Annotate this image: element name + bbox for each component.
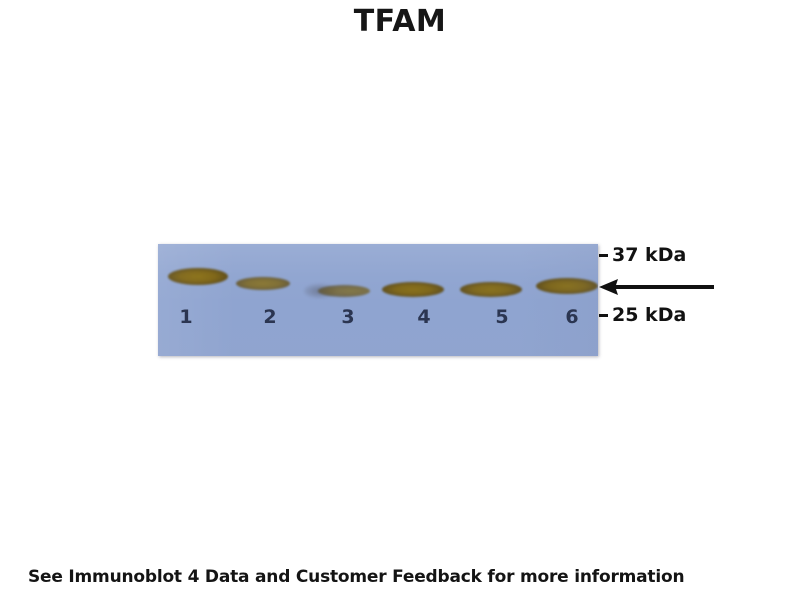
- figure-caption: See Immunoblot 4 Data and Customer Feedb…: [28, 566, 684, 588]
- mw-25-tick-icon: [599, 314, 608, 317]
- blot-band-lane-4: [382, 282, 444, 297]
- blot-band-core: [168, 268, 228, 285]
- blot-band-core: [460, 282, 522, 297]
- blot-band-core: [318, 285, 370, 297]
- blot-membrane-panel: [158, 244, 598, 356]
- blot-band-lane-1: [168, 268, 228, 285]
- blot-band-lane-5: [460, 282, 522, 297]
- western-blot-figure: TFAM 123456 37 kDa25 kDa See Immunoblot …: [0, 0, 800, 600]
- mw-25-label: 25 kDa: [612, 304, 686, 326]
- arrow-left-icon: [598, 278, 714, 296]
- page-title: TFAM: [0, 4, 800, 40]
- lane-number-3: 3: [334, 306, 362, 328]
- blot-band-lane-6: [536, 278, 598, 294]
- blot-band-core: [382, 282, 444, 297]
- lane-number-2: 2: [256, 306, 284, 328]
- mw-37-tick-icon: [599, 254, 608, 257]
- lane-number-6: 6: [558, 306, 586, 328]
- blot-band-core: [236, 277, 290, 290]
- tfam-band-arrow-icon: [598, 278, 714, 296]
- lane-number-4: 4: [410, 306, 438, 328]
- blot-band-lane-3: [318, 285, 370, 297]
- mw-37-label: 37 kDa: [612, 244, 686, 266]
- lane-number-1: 1: [172, 306, 200, 328]
- lane-number-5: 5: [488, 306, 516, 328]
- blot-band-lane-2: [236, 277, 290, 290]
- blot-band-core: [536, 278, 598, 294]
